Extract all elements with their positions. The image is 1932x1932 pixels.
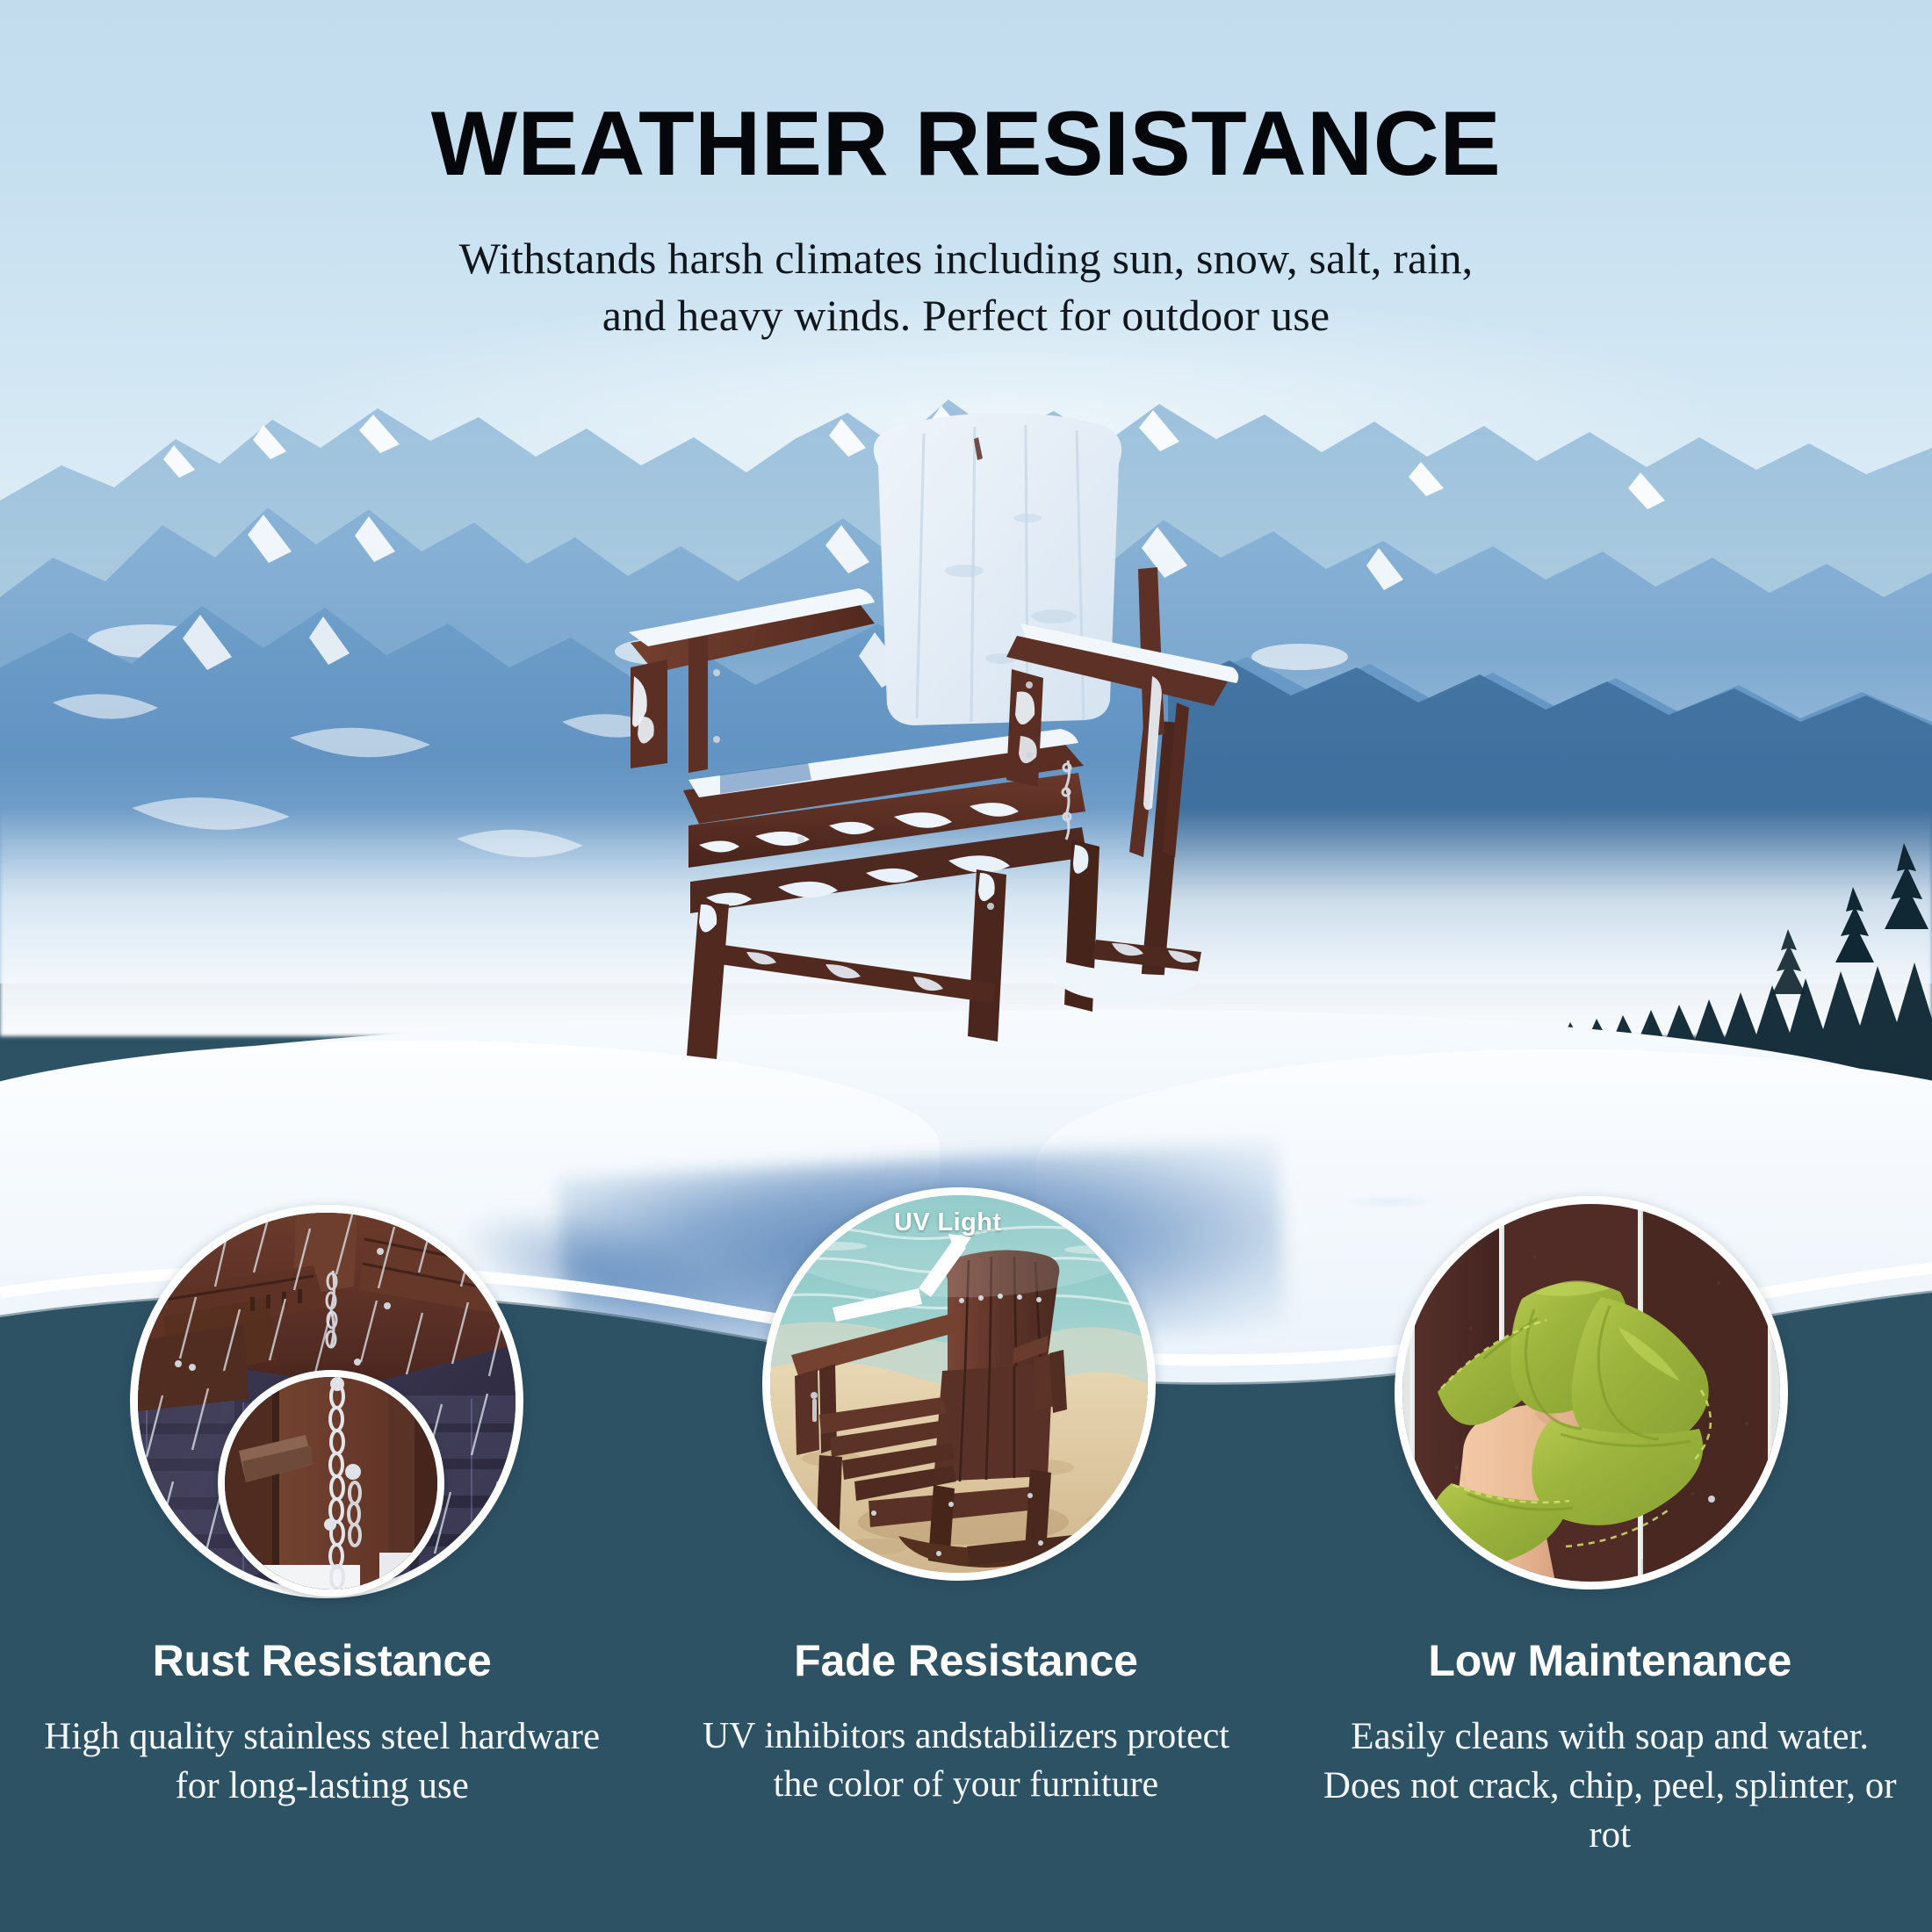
feature-card-rust-resistance: Rust Resistance High quality stainless s… <box>0 1635 644 1860</box>
feature-description-low-maintenance: Easily cleans with soap and water. Does … <box>1323 1712 1897 1860</box>
uv-light-arrow-icon <box>825 1234 1001 1348</box>
feature-card-low-maintenance: Low Maintenance Easily cleans with soap … <box>1288 1635 1932 1860</box>
feature-description-rust-resistance: High quality stainless steel hardware fo… <box>35 1712 609 1811</box>
infographic-canvas: WEATHER RESISTANCE Withstands harsh clim… <box>0 0 1932 1932</box>
feature-card-fade-resistance: Fade Resistance UV inhibitors andstabili… <box>644 1635 1287 1860</box>
feature-cards: Rust Resistance High quality stainless s… <box>0 1635 1932 1860</box>
feature-title-low-maintenance: Low Maintenance <box>1323 1635 1897 1686</box>
feature-title-fade-resistance: Fade Resistance <box>679 1635 1252 1686</box>
feature-title-rust-resistance: Rust Resistance <box>35 1635 609 1686</box>
feature-description-fade-resistance: UV inhibitors andstabilizers protect the… <box>679 1712 1252 1808</box>
feature-image-low-maintenance <box>1395 1196 1788 1590</box>
chain-closeup-inset <box>218 1370 444 1597</box>
